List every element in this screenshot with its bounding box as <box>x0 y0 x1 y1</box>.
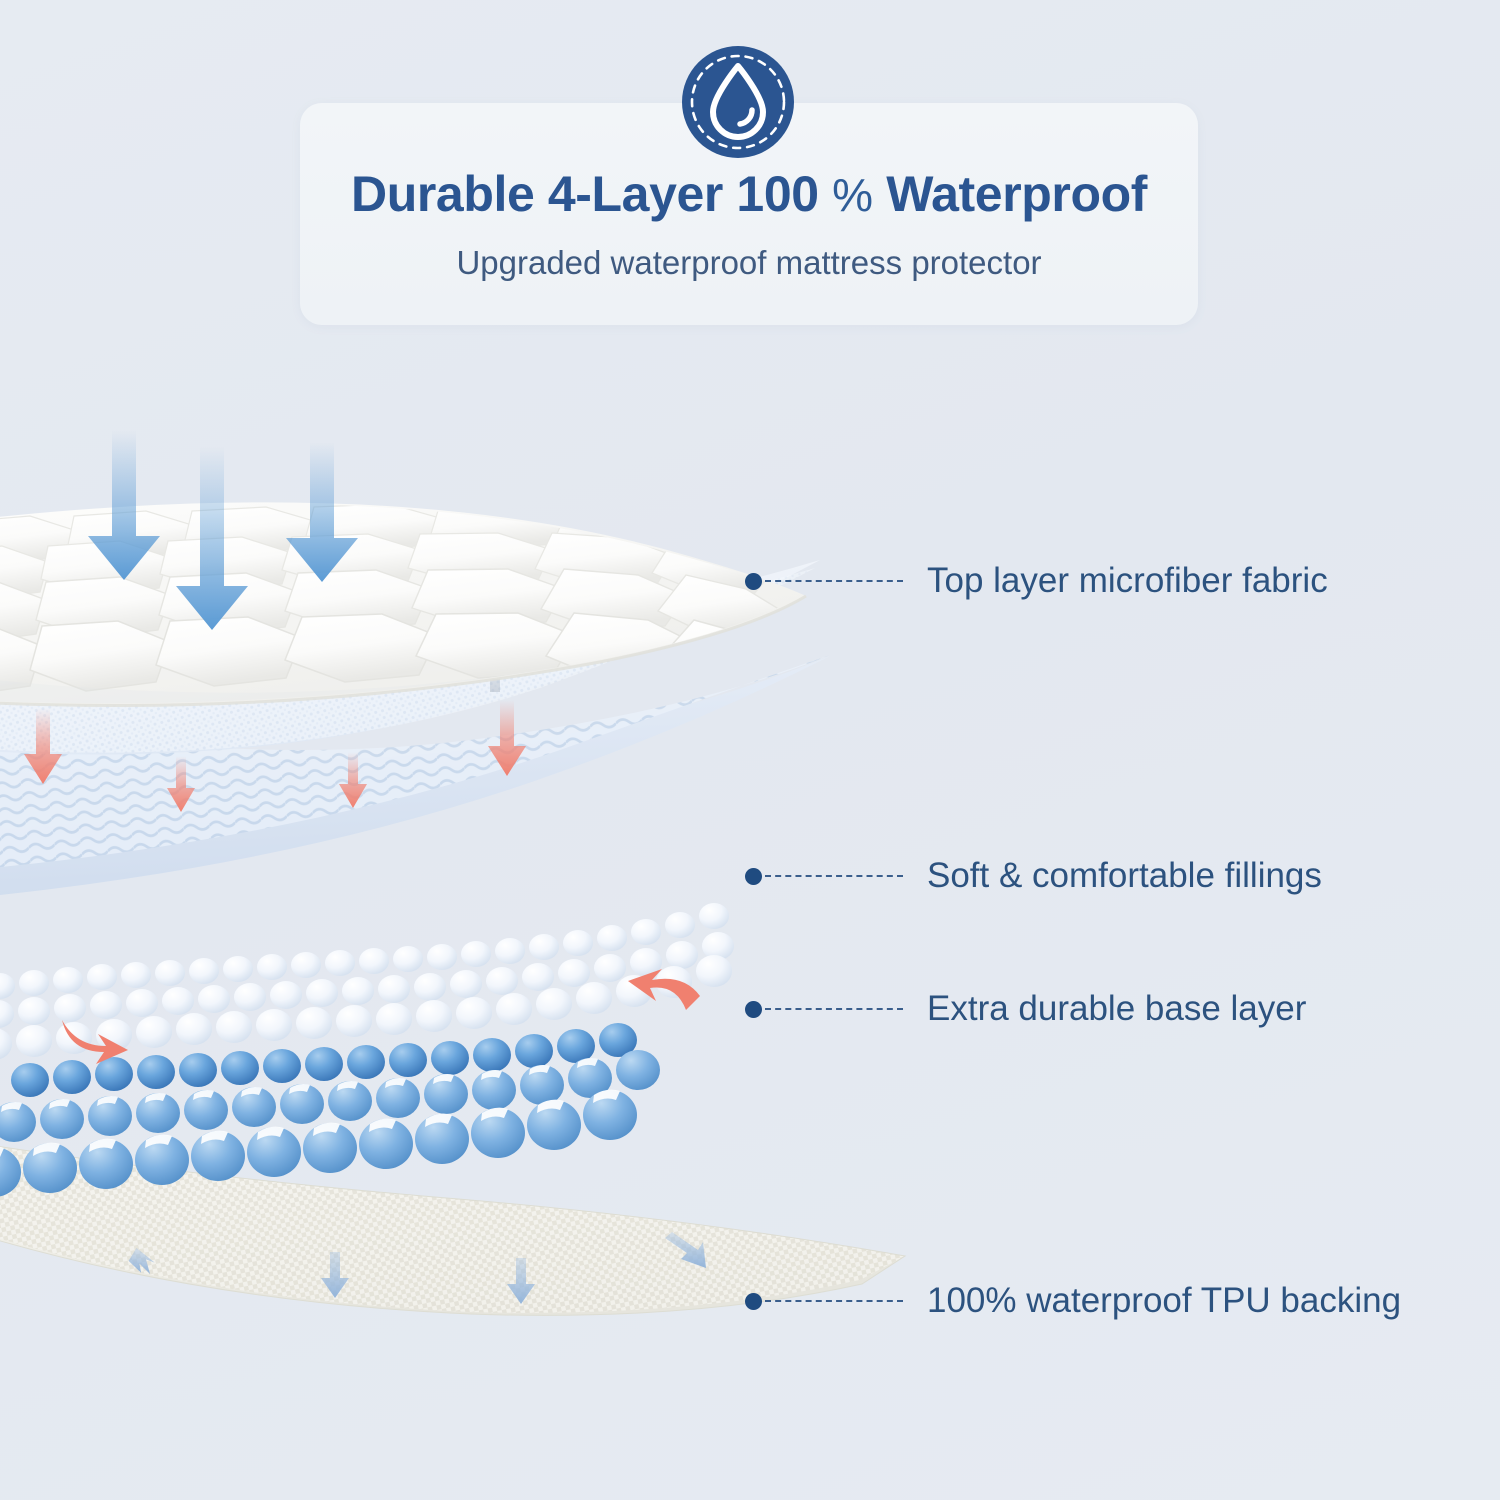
callout-label: Top layer microfiber fabric <box>927 561 1328 601</box>
title-part-1: Durable 4-Layer 100 <box>351 166 819 222</box>
callout-dashed-line-icon <box>765 1300 903 1302</box>
title-percent-symbol: % <box>832 169 873 221</box>
callout-dot-icon <box>745 1001 762 1018</box>
callout-label: 100% waterproof TPU backing <box>927 1281 1401 1321</box>
title-part-2: Waterproof <box>886 166 1147 222</box>
page-subtitle: Upgraded waterproof mattress protector <box>300 244 1198 282</box>
callout-tpu-backing: 100% waterproof TPU backing <box>745 1281 1401 1321</box>
callout-dot-icon <box>745 1293 762 1310</box>
callout-fillings: Soft & comfortable fillings <box>745 856 1322 896</box>
callout-label: Extra durable base layer <box>927 989 1306 1029</box>
callout-label: Soft & comfortable fillings <box>927 856 1322 896</box>
water-drop-badge <box>680 44 796 160</box>
callout-top-layer: Top layer microfiber fabric <box>745 561 1328 601</box>
badge-circle <box>682 46 794 158</box>
callout-base-layer: Extra durable base layer <box>745 989 1306 1029</box>
callout-dot-icon <box>745 868 762 885</box>
top-quilted-microfiber-layer <box>0 430 806 720</box>
infographic-root: Durable 4-Layer 100 % Waterproof Upgrade… <box>0 0 1500 1500</box>
callout-dashed-line-icon <box>765 1008 903 1010</box>
page-title: Durable 4-Layer 100 % Waterproof <box>300 165 1198 223</box>
layer-illustration <box>0 400 1000 1420</box>
callout-dashed-line-icon <box>765 580 903 582</box>
callout-dashed-line-icon <box>765 875 903 877</box>
callout-dot-icon <box>745 573 762 590</box>
